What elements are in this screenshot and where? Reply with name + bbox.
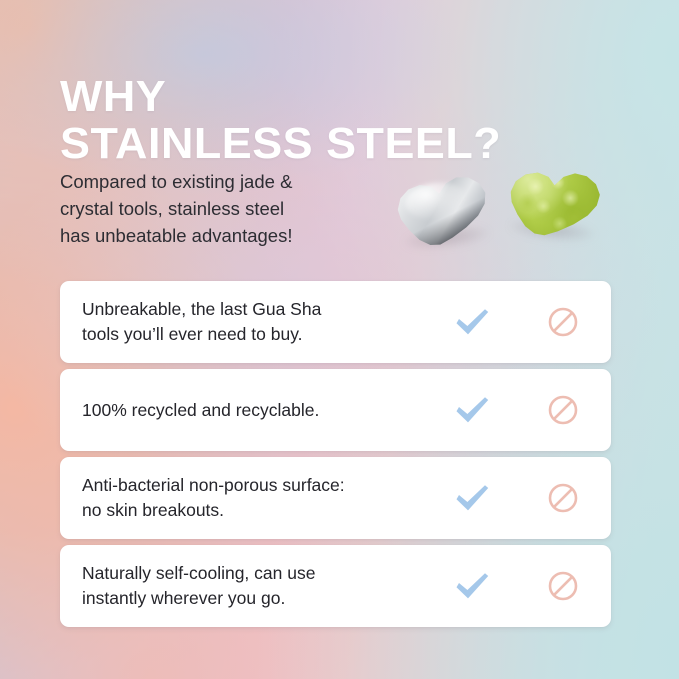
comparison-row-text: Anti-bacterial non-porous surface: no sk… [60, 473, 429, 523]
jade-gua-sha-image: Jade Gua Sha tool [500, 157, 608, 245]
prohibited-icon [547, 482, 579, 514]
infographic-canvas: WHY STAINLESS STEEL? Compared to existin… [0, 0, 679, 679]
other-column-cell [515, 306, 611, 338]
comparison-row: Naturally self-cooling, can use instantl… [60, 545, 611, 627]
row-text-line: no skin breakouts. [82, 498, 421, 523]
page-title-line-1: WHY [60, 73, 641, 120]
row-text-line: Unbreakable, the last Gua Sha [82, 297, 421, 322]
jade-tool-label: Jade Gua Sha tool [508, 157, 509, 158]
comparison-row-text: 100% recycled and recyclable. [60, 398, 429, 423]
row-text-line: Naturally self-cooling, can use [82, 561, 421, 586]
subtitle: Compared to existing jade & crystal tool… [60, 168, 380, 249]
steel-column-cell [429, 570, 515, 602]
other-column-cell [515, 482, 611, 514]
subtitle-line-2: crystal tools, stainless steel [60, 195, 380, 222]
comparison-row-text: Unbreakable, the last Gua Sha tools you’… [60, 297, 429, 347]
comparison-row: 100% recycled and recyclable. [60, 369, 611, 451]
stainless-steel-gua-sha-image: Stainless steel Gua Sha tool [388, 164, 497, 254]
subtitle-line-3: has unbeatable advantages! [60, 222, 380, 249]
prohibited-icon [547, 306, 579, 338]
other-column-cell [515, 394, 611, 426]
prohibited-icon [547, 394, 579, 426]
row-text-line: tools you’ll ever need to buy. [82, 322, 421, 347]
check-icon [453, 570, 491, 602]
prohibited-icon [547, 570, 579, 602]
page-title: WHY STAINLESS STEEL? [60, 73, 641, 167]
row-text-line: instantly wherever you go. [82, 586, 421, 611]
steel-column-cell [429, 482, 515, 514]
comparison-row: Unbreakable, the last Gua Sha tools you’… [60, 281, 611, 363]
row-text-line: Anti-bacterial non-porous surface: [82, 473, 421, 498]
steel-column-cell [429, 306, 515, 338]
other-column-cell [515, 570, 611, 602]
comparison-row-text: Naturally self-cooling, can use instantl… [60, 561, 429, 611]
steel-tool-label: Stainless steel Gua Sha tool [388, 176, 389, 177]
steel-column-cell [429, 394, 515, 426]
comparison-row: Anti-bacterial non-porous surface: no sk… [60, 457, 611, 539]
subtitle-line-1: Compared to existing jade & [60, 168, 380, 195]
comparison-list: Unbreakable, the last Gua Sha tools you’… [60, 281, 611, 633]
check-icon [453, 306, 491, 338]
check-icon [453, 394, 491, 426]
check-icon [453, 482, 491, 514]
row-text-line: 100% recycled and recyclable. [82, 398, 421, 423]
product-images: Stainless steel Gua Sha tool Jade Gua Sh… [392, 160, 607, 265]
